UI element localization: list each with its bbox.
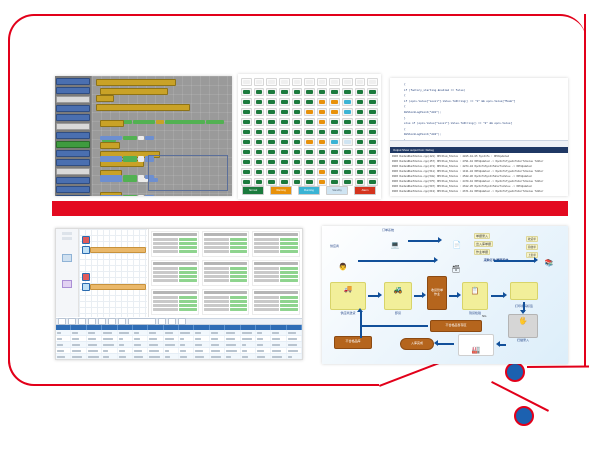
table-cell[interactable]: [194, 354, 209, 359]
status-cell-r4-c7[interactable]: [329, 118, 340, 126]
table-cell[interactable]: [56, 342, 71, 347]
table-cell[interactable]: [133, 342, 148, 347]
property-value[interactable]: [280, 271, 298, 274]
status-cell-r3-c3[interactable]: [279, 108, 290, 116]
table-cell[interactable]: [148, 342, 163, 347]
status-cell-r10-c9[interactable]: [355, 178, 366, 186]
table-cell[interactable]: [241, 354, 256, 359]
status-cell-r4-c3[interactable]: [279, 118, 290, 126]
toolbar-button[interactable]: [78, 318, 86, 325]
table-cell[interactable]: [87, 342, 102, 347]
table-cell[interactable]: [271, 354, 286, 359]
status-cell-r10-c10[interactable]: [367, 178, 378, 186]
code-log-viewer-panel[interactable]: { if (factory_starting.Enabled == false)…: [390, 78, 568, 196]
table-cell[interactable]: [118, 348, 133, 353]
status-cell-r5-c9[interactable]: [355, 128, 366, 136]
table-cell[interactable]: [256, 330, 271, 335]
property-value[interactable]: [179, 279, 197, 282]
table-cell[interactable]: [256, 342, 271, 347]
status-cell-r8-c1[interactable]: [254, 158, 265, 166]
status-cell-r4-c9[interactable]: [355, 118, 366, 126]
status-cell-r0-c4[interactable]: [292, 78, 303, 86]
planner-panel[interactable]: [55, 228, 303, 360]
table-cell[interactable]: [287, 342, 302, 347]
status-cell-r4-c0[interactable]: [241, 118, 252, 126]
status-cell-r9-c4[interactable]: [292, 168, 303, 176]
property-value[interactable]: [280, 275, 298, 278]
status-cell-r9-c2[interactable]: [266, 168, 277, 176]
status-cell-r2-c1[interactable]: [254, 98, 265, 106]
flow-node-order-system[interactable]: 💻: [384, 232, 406, 250]
property-value[interactable]: [230, 246, 248, 249]
property-label: [204, 267, 229, 270]
status-cell-r2-c6[interactable]: [317, 98, 328, 106]
status-cell-r5-c1[interactable]: [254, 128, 265, 136]
gantt-node-milestone-1[interactable]: [82, 236, 90, 244]
status-cell-r10-c4[interactable]: [292, 178, 303, 186]
status-cell-r8-c10[interactable]: [367, 158, 378, 166]
property-value[interactable]: [280, 267, 298, 270]
status-cell-r7-c8[interactable]: [342, 148, 353, 156]
status-cell-r7-c9[interactable]: [355, 148, 366, 156]
property-card-1[interactable]: [151, 231, 199, 257]
status-cell-r0-c8[interactable]: [342, 78, 353, 86]
property-value[interactable]: [179, 250, 197, 253]
table-cell[interactable]: [87, 336, 102, 341]
status-cell-r2-c9[interactable]: [355, 98, 366, 106]
status-cell-r9-c10[interactable]: [367, 168, 378, 176]
table-cell[interactable]: [210, 336, 225, 341]
property-card-3[interactable]: [252, 231, 300, 257]
blocks-editor-panel[interactable]: [55, 76, 232, 196]
table-cell[interactable]: [256, 354, 271, 359]
status-cell-r7-c4[interactable]: [292, 148, 303, 156]
status-cell-r1-c10[interactable]: [367, 88, 378, 96]
flow-node-supplier[interactable]: 👨: [330, 250, 356, 272]
table-cell[interactable]: [256, 348, 271, 353]
table-cell[interactable]: [56, 354, 71, 359]
status-cell-r8-c4[interactable]: [292, 158, 303, 166]
table-cell[interactable]: [241, 330, 256, 335]
status-cell-r8-c0[interactable]: [241, 158, 252, 166]
property-card-title: [254, 233, 298, 236]
table-cell[interactable]: [164, 354, 179, 359]
status-cell-r10-c7[interactable]: [329, 178, 340, 186]
status-cell-r0-c9[interactable]: [355, 78, 366, 86]
property-value[interactable]: [179, 267, 197, 270]
status-cell-r3-c0[interactable]: [241, 108, 252, 116]
table-cell[interactable]: [194, 348, 209, 353]
status-cell-r4-c6[interactable]: [317, 118, 328, 126]
status-cell-r6-c0[interactable]: [241, 138, 252, 146]
status-cell-r6-c4[interactable]: [292, 138, 303, 146]
status-cell-r7-c1[interactable]: [254, 148, 265, 156]
table-cell[interactable]: [87, 348, 102, 353]
property-card-5[interactable]: [202, 260, 250, 286]
table-cell[interactable]: [133, 354, 148, 359]
status-cell-r7-c3[interactable]: [279, 148, 290, 156]
status-cell-r3-c5[interactable]: [304, 108, 315, 116]
property-value[interactable]: [179, 300, 197, 303]
status-cell-r8-c5[interactable]: [304, 158, 315, 166]
property-card-7[interactable]: [151, 289, 199, 315]
table-cell[interactable]: [287, 348, 302, 353]
table-cell[interactable]: [133, 336, 148, 341]
property-value[interactable]: [230, 267, 248, 270]
status-cell-r2-c2[interactable]: [266, 98, 277, 106]
table-cell[interactable]: [210, 354, 225, 359]
property-card-8[interactable]: [202, 289, 250, 315]
status-cell-r10-c0[interactable]: [241, 178, 252, 186]
table-cell[interactable]: [241, 348, 256, 353]
table-cell[interactable]: [210, 348, 225, 353]
status-cell-r0-c7[interactable]: [329, 78, 340, 86]
status-cell-r2-c5[interactable]: [304, 98, 315, 106]
flow-node-putaway[interactable]: 🏭: [458, 334, 494, 356]
toolbar-button[interactable]: [178, 318, 186, 325]
table-cell[interactable]: [225, 354, 240, 359]
status-cell-r7-c5[interactable]: [304, 148, 315, 156]
property-value[interactable]: [230, 242, 248, 245]
status-cell-r10-c5[interactable]: [304, 178, 315, 186]
table-row[interactable]: [56, 354, 302, 359]
status-cell-r7-c2[interactable]: [266, 148, 277, 156]
table-body[interactable]: [56, 330, 302, 359]
status-cell-r1-c0[interactable]: [241, 88, 252, 96]
property-value[interactable]: [280, 246, 298, 249]
table-cell[interactable]: [102, 354, 117, 359]
gantt-node-milestone-2[interactable]: [82, 273, 90, 281]
logistics-flow-panel[interactable]: 👨 供应商 💻 订单系统 📄 🗃 单据录入 出入库单据 作业单据 采购订单 管理…: [322, 226, 568, 364]
status-cell-r9-c6[interactable]: [317, 168, 328, 176]
status-cell-r9-c5[interactable]: [304, 168, 315, 176]
status-cell-r1-c2[interactable]: [266, 88, 277, 96]
status-cell-r0-c3[interactable]: [279, 78, 290, 86]
table-cell[interactable]: [271, 348, 286, 353]
property-value[interactable]: [179, 308, 197, 311]
toolbar-search-field[interactable]: [128, 318, 156, 325]
flow-node-inspect[interactable]: 📋: [462, 282, 488, 310]
status-cell-r5-c6[interactable]: [317, 128, 328, 136]
status-cell-r5-c3[interactable]: [279, 128, 290, 136]
table-cell[interactable]: [71, 336, 86, 341]
status-cell-r10-c2[interactable]: [266, 178, 277, 186]
status-cell-r5-c4[interactable]: [292, 128, 303, 136]
status-cell-r9-c7[interactable]: [329, 168, 340, 176]
status-cell-r6-c2[interactable]: [266, 138, 277, 146]
property-value[interactable]: [230, 304, 248, 307]
table-cell[interactable]: [118, 330, 133, 335]
flow-node-done[interactable]: 入库完成: [400, 338, 434, 350]
status-cell-r9-c8[interactable]: [342, 168, 353, 176]
status-cell-r4-c10[interactable]: [367, 118, 378, 126]
table-cell[interactable]: [102, 336, 117, 341]
status-cell-r4-c4[interactable]: [292, 118, 303, 126]
status-cell-r3-c7[interactable]: [329, 108, 340, 116]
status-cell-r6-c6[interactable]: [317, 138, 328, 146]
property-card-9[interactable]: [252, 289, 300, 315]
property-value[interactable]: [230, 250, 248, 253]
table-cell[interactable]: [210, 342, 225, 347]
property-value[interactable]: [280, 242, 298, 245]
toolbar-button[interactable]: [168, 318, 176, 325]
blocks-canvas[interactable]: [92, 76, 232, 196]
status-cell-r0-c1[interactable]: [254, 78, 265, 86]
table-toolbar[interactable]: [56, 318, 302, 325]
flow-node-archive[interactable]: 📚: [540, 248, 558, 268]
status-cell-r2-c7[interactable]: [329, 98, 340, 106]
status-cell-r5-c8[interactable]: [342, 128, 353, 136]
property-value[interactable]: [280, 250, 298, 253]
property-value[interactable]: [230, 238, 248, 241]
table-cell[interactable]: [133, 348, 148, 353]
table-cell[interactable]: [148, 330, 163, 335]
table-cell[interactable]: [56, 348, 71, 353]
toolbar-button[interactable]: [98, 318, 106, 325]
status-cell-r2-c8[interactable]: [342, 98, 353, 106]
toolbar-button[interactable]: [118, 318, 126, 325]
status-cell-r7-c10[interactable]: [367, 148, 378, 156]
property-value[interactable]: [179, 242, 197, 245]
property-value[interactable]: [230, 279, 248, 282]
flow-node-scan[interactable]: 🖐: [508, 314, 538, 338]
status-cell-r6-c8[interactable]: [342, 138, 353, 146]
gantt-node-task-2[interactable]: [82, 283, 90, 291]
planner-property-grid[interactable]: [148, 229, 302, 317]
flow-node-reject-area[interactable]: 不合格品暂存区: [430, 320, 482, 332]
property-value[interactable]: [280, 296, 298, 299]
status-cell-r2-c10[interactable]: [367, 98, 378, 106]
property-value[interactable]: [179, 296, 197, 299]
status-cell-r3-c9[interactable]: [355, 108, 366, 116]
property-value[interactable]: [280, 238, 298, 241]
toolbar-button[interactable]: [88, 318, 96, 325]
status-cell-r2-c3[interactable]: [279, 98, 290, 106]
table-cell[interactable]: [241, 336, 256, 341]
status-cell-r8-c2[interactable]: [266, 158, 277, 166]
property-value[interactable]: [179, 246, 197, 249]
status-cell-r9-c3[interactable]: [279, 168, 290, 176]
status-cell-r4-c2[interactable]: [266, 118, 277, 126]
table-cell[interactable]: [271, 336, 286, 341]
property-card-6[interactable]: [252, 260, 300, 286]
planner-data-table[interactable]: [56, 318, 302, 359]
status-cell-r5-c10[interactable]: [367, 128, 378, 136]
toolbar-button[interactable]: [68, 318, 76, 325]
table-cell[interactable]: [164, 342, 179, 347]
status-cell-r6-c1[interactable]: [254, 138, 265, 146]
property-value[interactable]: [280, 308, 298, 311]
status-cell-r7-c0[interactable]: [241, 148, 252, 156]
status-cell-r2-c0[interactable]: [241, 98, 252, 106]
property-value[interactable]: [280, 279, 298, 282]
flow-node-erp-top[interactable]: 📄: [447, 234, 467, 250]
table-cell[interactable]: [271, 342, 286, 347]
status-cell-r3-c4[interactable]: [292, 108, 303, 116]
table-cell[interactable]: [164, 336, 179, 341]
status-cell-r6-c10[interactable]: [367, 138, 378, 146]
status-cell-r4-c8[interactable]: [342, 118, 353, 126]
log-output[interactable]: INFO RunAndRunStatus.cpp(421) OPCItem_St…: [390, 153, 568, 196]
flow-node-receiving[interactable]: 收货管单 作业: [427, 276, 447, 310]
table-cell[interactable]: [179, 342, 194, 347]
status-cell-r5-c7[interactable]: [329, 128, 340, 136]
toolbar-button[interactable]: [108, 318, 116, 325]
status-cell-r9-c1[interactable]: [254, 168, 265, 176]
table-cell[interactable]: [71, 354, 86, 359]
status-cell-r6-c3[interactable]: [279, 138, 290, 146]
status-cell-r0-c10[interactable]: [367, 78, 378, 86]
table-cell[interactable]: [118, 354, 133, 359]
status-cell-r6-c9[interactable]: [355, 138, 366, 146]
status-cell-r3-c2[interactable]: [266, 108, 277, 116]
table-cell[interactable]: [118, 342, 133, 347]
property-value[interactable]: [179, 275, 197, 278]
table-cell[interactable]: [179, 348, 194, 353]
table-cell[interactable]: [287, 354, 302, 359]
table-cell[interactable]: [194, 336, 209, 341]
status-cell-r2-c4[interactable]: [292, 98, 303, 106]
status-cell-r8-c9[interactable]: [355, 158, 366, 166]
status-grid[interactable]: [241, 78, 378, 177]
status-cell-r1-c3[interactable]: [279, 88, 290, 96]
status-grid-panel[interactable]: Normal Warning Running Standby Alarm: [238, 74, 381, 199]
table-cell[interactable]: [179, 330, 194, 335]
blocks-palette[interactable]: [55, 76, 91, 196]
status-cell-r8-c3[interactable]: [279, 158, 290, 166]
status-cell-r0-c6[interactable]: [317, 78, 328, 86]
property-value[interactable]: [280, 304, 298, 307]
status-cell-r10-c6[interactable]: [317, 178, 328, 186]
table-cell[interactable]: [241, 342, 256, 347]
status-cell-r1-c8[interactable]: [342, 88, 353, 96]
status-cell-r10-c1[interactable]: [254, 178, 265, 186]
table-cell[interactable]: [71, 348, 86, 353]
status-indicator: [281, 110, 288, 114]
status-cell-r1-c1[interactable]: [254, 88, 265, 96]
table-cell[interactable]: [102, 342, 117, 347]
table-cell[interactable]: [225, 330, 240, 335]
status-cell-r1-c7[interactable]: [329, 88, 340, 96]
status-cell-r9-c9[interactable]: [355, 168, 366, 176]
table-cell[interactable]: [210, 330, 225, 335]
table-cell[interactable]: [102, 330, 117, 335]
table-cell[interactable]: [164, 348, 179, 353]
table-cell[interactable]: [148, 336, 163, 341]
status-cell-r8-c7[interactable]: [329, 158, 340, 166]
flow-node-truck[interactable]: 🚚: [330, 282, 366, 310]
status-cell-r1-c5[interactable]: [304, 88, 315, 96]
property-value[interactable]: [230, 275, 248, 278]
table-cell[interactable]: [71, 342, 86, 347]
status-cell-r3-c8[interactable]: [342, 108, 353, 116]
status-cell-r1-c4[interactable]: [292, 88, 303, 96]
table-cell[interactable]: [179, 354, 194, 359]
status-indicator: [344, 140, 351, 144]
status-cell-r8-c8[interactable]: [342, 158, 353, 166]
table-cell[interactable]: [118, 336, 133, 341]
status-cell-r4-c5[interactable]: [304, 118, 315, 126]
status-cell-r0-c5[interactable]: [304, 78, 315, 86]
gantt-chart[interactable]: [79, 229, 147, 317]
table-cell[interactable]: [148, 354, 163, 359]
table-cell[interactable]: [102, 348, 117, 353]
property-value[interactable]: [230, 308, 248, 311]
table-cell[interactable]: [56, 330, 71, 335]
table-cell[interactable]: [87, 354, 102, 359]
flow-node-erp[interactable]: 🗃: [444, 252, 468, 274]
property-value[interactable]: [230, 296, 248, 299]
table-cell[interactable]: [225, 342, 240, 347]
planner-toolbar[interactable]: [56, 229, 79, 317]
status-cell-r9-c0[interactable]: [241, 168, 252, 176]
status-cell-r8-c6[interactable]: [317, 158, 328, 166]
toolbar-button[interactable]: [58, 318, 66, 325]
flow-node-reject-store[interactable]: 不合格品库: [334, 336, 372, 349]
toolbar-button[interactable]: [158, 318, 166, 325]
status-cell-r5-c0[interactable]: [241, 128, 252, 136]
property-value[interactable]: [280, 300, 298, 303]
status-cell-r5-c2[interactable]: [266, 128, 277, 136]
status-cell-r6-c7[interactable]: [329, 138, 340, 146]
table-cell[interactable]: [287, 330, 302, 335]
log-row-8[interactable]: INFO RunAndRunStatus.cpp(613) OPCItem_St…: [392, 189, 566, 194]
table-cell[interactable]: [225, 336, 240, 341]
gantt-node-task-1[interactable]: [82, 246, 90, 254]
gantt-bar-1[interactable]: [90, 247, 146, 253]
table-cell[interactable]: [164, 330, 179, 335]
table-cell[interactable]: [87, 330, 102, 335]
property-card-2[interactable]: [202, 231, 250, 257]
property-card-4[interactable]: [151, 260, 199, 286]
property-value[interactable]: [230, 300, 248, 303]
status-cell-r1-c9[interactable]: [355, 88, 366, 96]
table-cell[interactable]: [271, 330, 286, 335]
status-cell-r4-c1[interactable]: [254, 118, 265, 126]
status-cell-r3-c6[interactable]: [317, 108, 328, 116]
property-value[interactable]: [179, 271, 197, 274]
status-cell-r10-c8[interactable]: [342, 178, 353, 186]
status-cell-r3-c10[interactable]: [367, 108, 378, 116]
status-cell-r6-c5[interactable]: [304, 138, 315, 146]
property-value[interactable]: [179, 304, 197, 307]
gantt-bar-2[interactable]: [90, 284, 146, 290]
status-cell-r0-c0[interactable]: [241, 78, 252, 86]
code-editor[interactable]: { if (factory_starting.Enabled == false)…: [390, 78, 568, 140]
table-cell[interactable]: [71, 330, 86, 335]
status-cell-r10-c3[interactable]: [279, 178, 290, 186]
status-cell-r7-c7[interactable]: [329, 148, 340, 156]
table-cell[interactable]: [194, 342, 209, 347]
property-value[interactable]: [179, 238, 197, 241]
status-cell-r1-c6[interactable]: [317, 88, 328, 96]
table-cell[interactable]: [179, 336, 194, 341]
status-cell-r3-c1[interactable]: [254, 108, 265, 116]
status-cell-r7-c6[interactable]: [317, 148, 328, 156]
status-cell-r5-c5[interactable]: [304, 128, 315, 136]
flow-node-barcode-print[interactable]: [510, 282, 538, 300]
flow-node-unload[interactable]: 🚜: [384, 282, 412, 310]
table-cell[interactable]: [133, 330, 148, 335]
table-cell[interactable]: [225, 348, 240, 353]
table-cell[interactable]: [56, 336, 71, 341]
table-cell[interactable]: [287, 336, 302, 341]
table-cell[interactable]: [256, 336, 271, 341]
status-cell-r0-c2[interactable]: [266, 78, 277, 86]
table-cell[interactable]: [194, 330, 209, 335]
table-cell[interactable]: [148, 348, 163, 353]
property-value[interactable]: [230, 271, 248, 274]
